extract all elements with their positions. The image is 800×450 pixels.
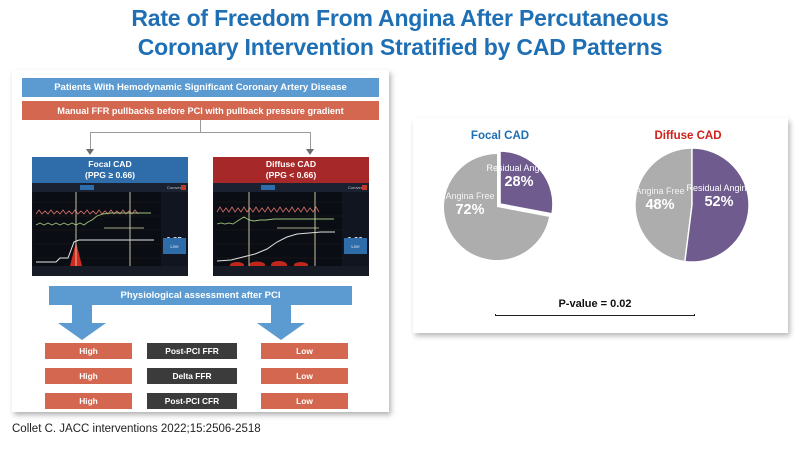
block-arrow-down-right-icon (257, 304, 305, 340)
console-sidebar-diffuse: 0.39 Live (342, 192, 369, 266)
result-right-2: Low (261, 393, 348, 409)
pie-slice-residual-angina-focal (500, 151, 553, 214)
pie-chart-panel: Focal CAD Diffuse CAD Angina Free 72% Re… (413, 118, 788, 333)
branch-focal-criteria: (PPG ≥ 0.66) (85, 170, 135, 181)
pie-slice-angina-free-diffuse (635, 148, 692, 262)
connector-left-drop (90, 132, 91, 149)
pie-chart-diffuse: Angina Free 48% Residual Angina 52% (633, 146, 751, 264)
page-title-line-1: Rate of Freedom From Angina After Percut… (0, 4, 800, 33)
branch-box-focal-cad: Focal CAD (PPG ≥ 0.66) (32, 157, 188, 183)
result-metric-0: Post-PCI FFR (147, 343, 237, 359)
result-right-1: Low (261, 368, 348, 384)
flowchart-method-bar: Manual FFR pullbacks before PCI with pul… (22, 101, 379, 120)
console-plot-diffuse (215, 192, 342, 266)
console-live-button-focal[interactable]: Live (163, 238, 186, 254)
block-arrow-down-left-icon (58, 304, 106, 340)
branch-box-diffuse-cad: Diffuse CAD (PPG < 0.66) (213, 157, 369, 183)
connector-right-drop (310, 132, 311, 149)
flowchart-panel: Patients With Hemodynamic Significant Co… (12, 70, 389, 412)
console-chip-icon (80, 185, 94, 190)
flowchart-assessment-bar: Physiological assessment after PCI (49, 286, 352, 305)
pie-title-focal: Focal CAD (435, 130, 565, 142)
ffr-trace-focal (34, 192, 161, 266)
page-title: Rate of Freedom From Angina After Percut… (0, 4, 800, 62)
console-close-icon-diffuse (362, 185, 367, 190)
flowchart-population-bar: Patients With Hemodynamic Significant Co… (22, 78, 379, 97)
pie-chart-focal: Angina Free 72% Residual Angina 28% (441, 151, 553, 263)
console-bottom-toolbar-focal (32, 266, 188, 276)
ffr-console-focal: Coroventis 0.85 Live (32, 183, 188, 276)
console-live-button-diffuse[interactable]: Live (344, 238, 367, 254)
citation-text: Collet C. JACC interventions 2022;15:250… (12, 423, 261, 435)
console-sidebar-focal: 0.85 Live (161, 192, 188, 266)
result-left-2: High (45, 393, 132, 409)
ffr-console-diffuse: Coroventis (213, 183, 369, 276)
arrow-down-icon-right (306, 149, 314, 155)
connector-horizontal (90, 132, 311, 133)
console-plot-focal (34, 192, 161, 266)
pie-title-diffuse: Diffuse CAD (623, 130, 753, 142)
result-right-0: Low (261, 343, 348, 359)
console-chip-icon (261, 185, 275, 190)
console-toolbar-diffuse: Coroventis (213, 183, 369, 192)
branch-diffuse-criteria: (PPG < 0.66) (266, 170, 316, 181)
console-bottom-toolbar-diffuse (213, 266, 369, 276)
branch-diffuse-name: Diffuse CAD (266, 159, 316, 170)
arrow-down-icon-left (86, 149, 94, 155)
branch-focal-name: Focal CAD (88, 159, 131, 170)
console-toolbar-focal: Coroventis (32, 183, 188, 192)
result-left-0: High (45, 343, 132, 359)
result-metric-1: Delta FFR (147, 368, 237, 384)
result-metric-2: Post-PCI CFR (147, 393, 237, 409)
page-title-line-2: Coronary Intervention Stratified by CAD … (0, 33, 800, 62)
console-close-icon-focal (181, 185, 186, 190)
ffr-trace-diffuse (215, 192, 342, 266)
result-left-1: High (45, 368, 132, 384)
p-value-label: P-value = 0.02 (495, 294, 695, 314)
pie-slice-residual-angina-diffuse (685, 148, 749, 262)
